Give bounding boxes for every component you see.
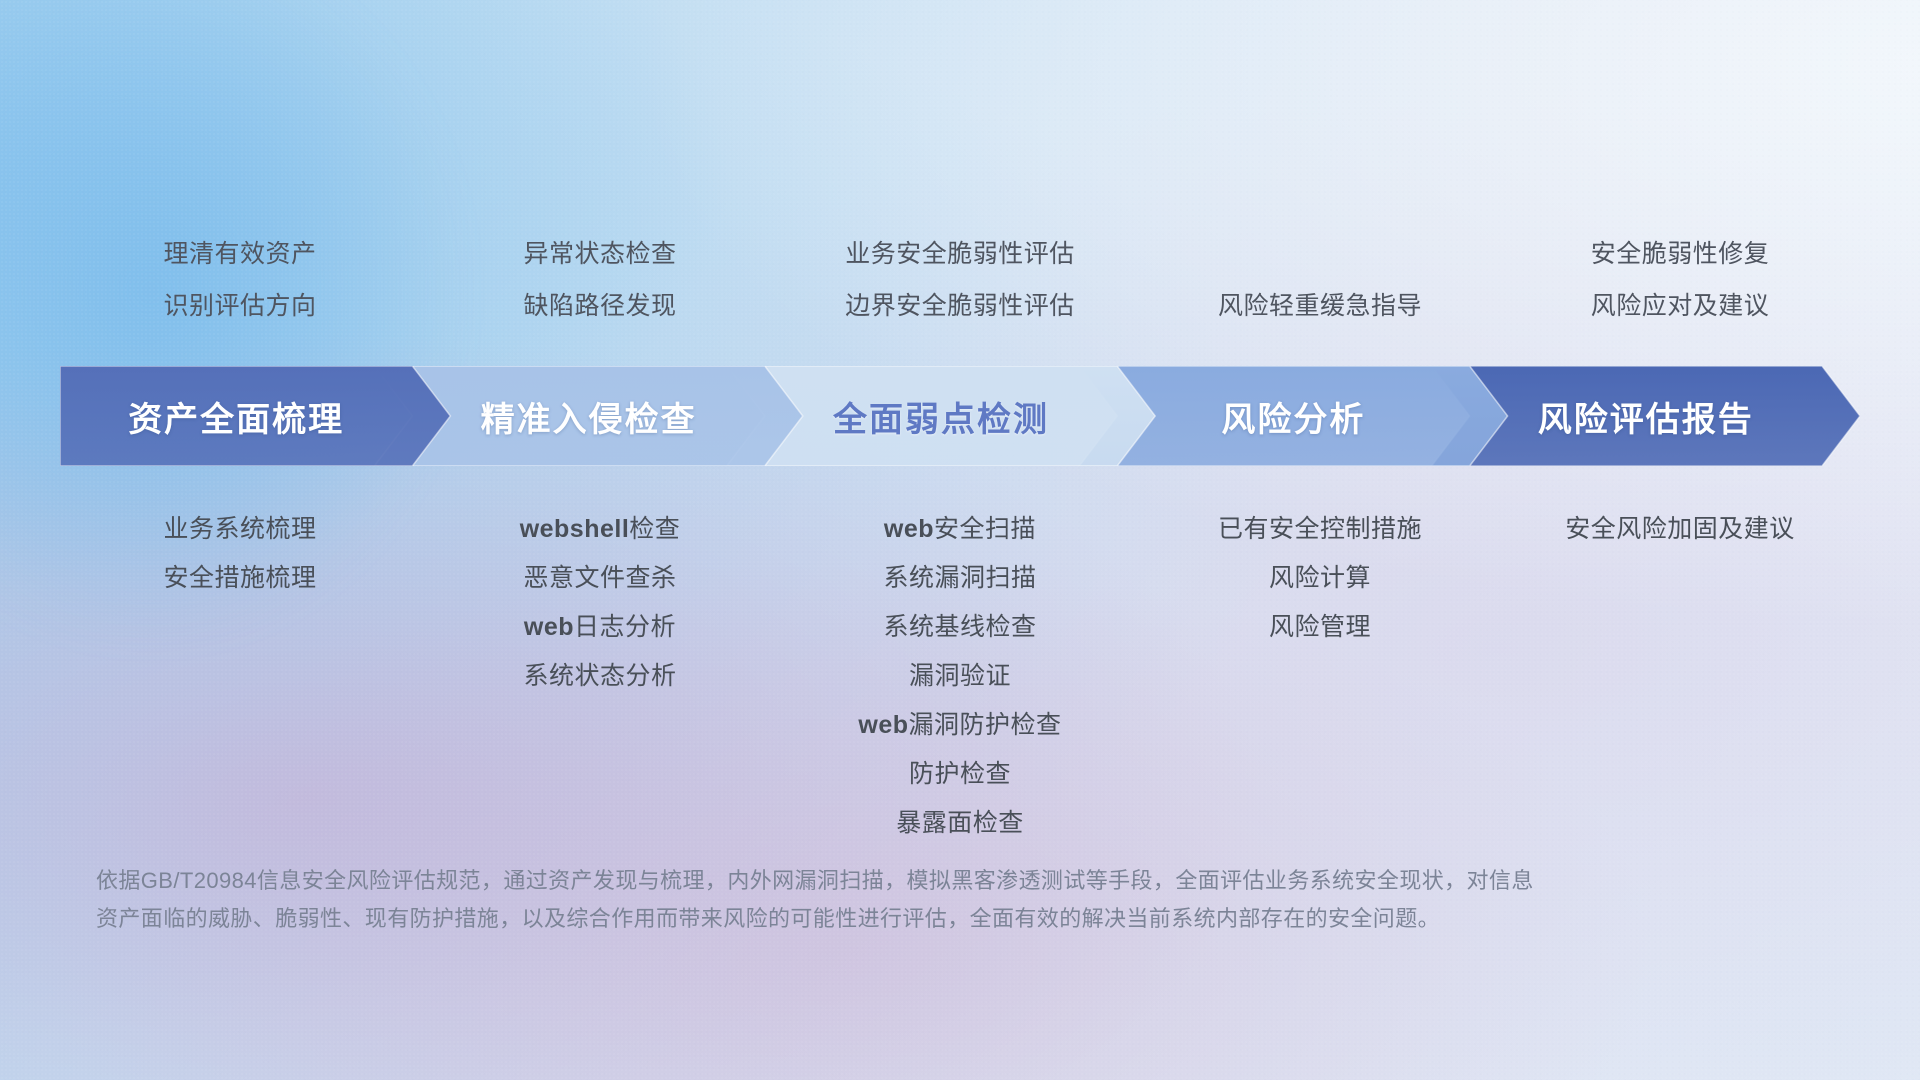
top-labels-column-5: 安全脆弱性修复风险应对及建议 — [1500, 228, 1860, 332]
list-item: 系统基线检查 — [883, 603, 1036, 652]
detail-list-column-4: 已有安全控制措施风险计算风险管理 — [1140, 505, 1500, 848]
list-item: 风险管理 — [1269, 603, 1371, 652]
top-label: 异常状态检查 — [523, 228, 676, 280]
footer-line-1: 依据GB/T20984信息安全风险评估规范，通过资产发现与梳理，内外网漏洞扫描，… — [96, 862, 1716, 900]
list-item: 漏洞验证 — [909, 652, 1011, 701]
top-label: 业务安全脆弱性评估 — [845, 228, 1075, 280]
list-item-label: 漏洞防护检查 — [909, 711, 1062, 739]
list-item: 系统漏洞扫描 — [883, 554, 1036, 603]
process-chevron-bar: 风险评估报告风险分析全面弱点检测精准入侵检查资产全面梳理 — [60, 366, 1860, 466]
chevron-stage-1[interactable] — [60, 366, 450, 466]
list-item: 系统状态分析 — [523, 652, 676, 701]
list-item-label: 安全扫描 — [934, 515, 1036, 543]
list-item-label: 日志分析 — [574, 613, 676, 641]
detail-list-column-1: 业务系统梳理安全措施梳理 — [60, 505, 420, 848]
chevron-shapes — [60, 366, 1860, 466]
top-label: 安全脆弱性修复 — [1591, 228, 1770, 280]
list-item-keyword: webshell — [520, 515, 630, 543]
top-label: 边界安全脆弱性评估 — [845, 280, 1075, 332]
top-label: 缺陷路径发现 — [523, 280, 676, 332]
top-label: 风险应对及建议 — [1591, 280, 1770, 332]
list-item: web日志分析 — [524, 603, 676, 652]
list-item: 风险计算 — [1269, 554, 1371, 603]
list-item: 已有安全控制措施 — [1218, 505, 1422, 554]
list-item-keyword: web — [884, 515, 934, 543]
list-item: 业务系统梳理 — [163, 505, 316, 554]
top-label: 风险轻重缓急指导 — [1218, 280, 1422, 332]
list-item-label: 检查 — [629, 515, 680, 543]
list-item: webshell检查 — [520, 505, 681, 554]
list-item: 安全风险加固及建议 — [1565, 505, 1795, 554]
top-label: 识别评估方向 — [163, 280, 316, 332]
top-labels-column-1: 理清有效资产识别评估方向 — [60, 228, 420, 332]
stage-detail-lists: 业务系统梳理安全措施梳理webshell检查恶意文件查杀web日志分析系统状态分… — [60, 505, 1860, 848]
list-item: 防护检查 — [909, 750, 1011, 799]
top-labels-column-2: 异常状态检查缺陷路径发现 — [420, 228, 780, 332]
detail-list-column-5: 安全风险加固及建议 — [1500, 505, 1860, 848]
detail-list-column-2: webshell检查恶意文件查杀web日志分析系统状态分析 — [420, 505, 780, 848]
list-item: 恶意文件查杀 — [523, 554, 676, 603]
list-item: web安全扫描 — [884, 505, 1036, 554]
top-label-row: 理清有效资产识别评估方向异常状态检查缺陷路径发现业务安全脆弱性评估边界安全脆弱性… — [60, 228, 1860, 332]
top-labels-column-4: 风险轻重缓急指导 — [1140, 228, 1500, 332]
list-item: 安全措施梳理 — [163, 554, 316, 603]
top-labels-column-3: 业务安全脆弱性评估边界安全脆弱性评估 — [780, 228, 1140, 332]
detail-list-column-3: web安全扫描系统漏洞扫描系统基线检查漏洞验证web漏洞防护检查防护检查暴露面检… — [780, 505, 1140, 848]
list-item: web漏洞防护检查 — [858, 701, 1061, 750]
list-item: 暴露面检查 — [896, 799, 1024, 848]
list-item-keyword: web — [524, 613, 574, 641]
footer-line-2: 资产面临的威胁、脆弱性、现有防护措施，以及综合作用而带来风险的可能性进行评估，全… — [96, 900, 1716, 938]
footer-description: 依据GB/T20984信息安全风险评估规范，通过资产发现与梳理，内外网漏洞扫描，… — [96, 862, 1716, 938]
top-label: 理清有效资产 — [163, 228, 316, 280]
list-item-keyword: web — [858, 711, 908, 739]
